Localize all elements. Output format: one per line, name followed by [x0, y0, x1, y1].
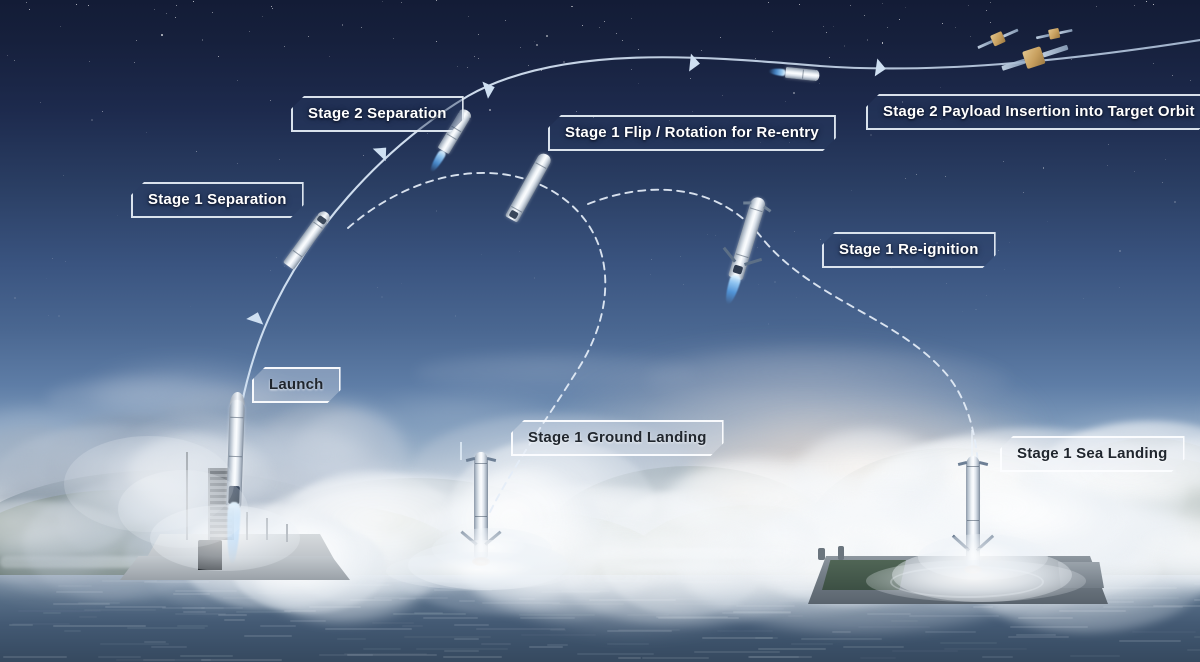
- landing-exhaust-trail: [460, 442, 462, 460]
- ascent-arrowheads: [246, 54, 887, 325]
- label-text: Stage 2 Separation: [308, 105, 447, 122]
- label-stage-1-sea-landing[interactable]: Stage 1 Sea Landing: [1000, 436, 1185, 472]
- label-text: Stage 1 Re-ignition: [839, 241, 979, 258]
- label-text: Launch: [269, 376, 324, 393]
- label-stage-1-re-ignition[interactable]: Stage 1 Re-ignition: [822, 232, 996, 268]
- label-stage-1-ground-landing[interactable]: Stage 1 Ground Landing: [511, 420, 724, 456]
- label-stage-2-payload-insertion[interactable]: Stage 2 Payload Insertion into Target Or…: [866, 94, 1200, 130]
- label-launch[interactable]: Launch: [252, 367, 341, 403]
- grid-fin: [743, 201, 751, 204]
- label-text: Stage 1 Ground Landing: [528, 429, 707, 446]
- label-text: Stage 1 Separation: [148, 191, 287, 208]
- launch-sequence-diagram: Stage 1 SeparationStage 2 SeparationStag…: [0, 0, 1200, 662]
- label-text: Stage 1 Flip / Rotation for Re-entry: [565, 124, 819, 141]
- label-text: Stage 2 Payload Insertion into Target Or…: [883, 103, 1195, 120]
- label-stage-1-separation[interactable]: Stage 1 Separation: [131, 182, 304, 218]
- sea-landing-exhaust-trail: [971, 430, 973, 456]
- label-stage-2-separation[interactable]: Stage 2 Separation: [291, 96, 464, 132]
- label-stage-1-flip-rotation[interactable]: Stage 1 Flip / Rotation for Re-entry: [548, 115, 836, 151]
- label-text: Stage 1 Sea Landing: [1017, 445, 1168, 462]
